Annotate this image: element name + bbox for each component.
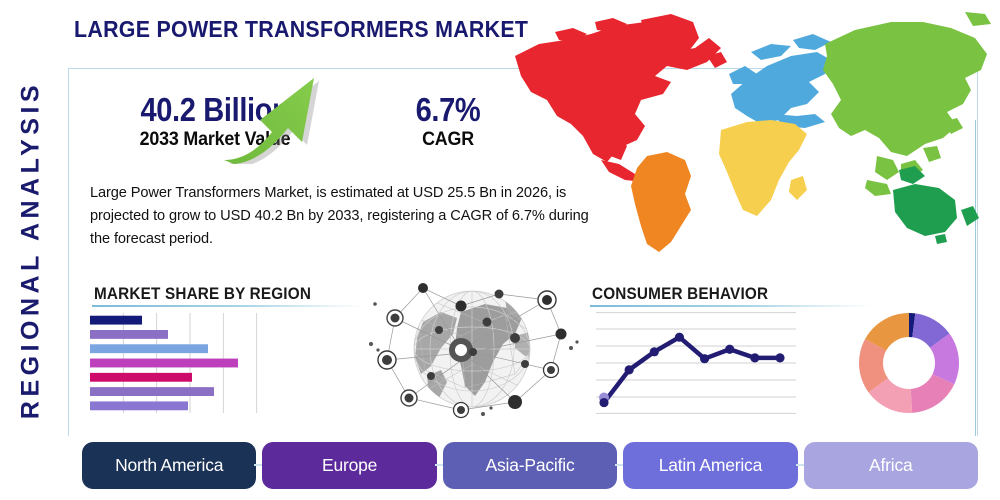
vertical-section-label-text: REGIONAL ANALYSIS: [17, 81, 46, 419]
page-title: LARGE POWER TRANSFORMERS MARKET: [74, 16, 528, 43]
kpi-cagr: 6.7% CAGR: [388, 92, 508, 152]
bar-chart-bars: [90, 316, 238, 411]
network-globe-icon: [365, 278, 580, 420]
growth-arrow-icon: [222, 76, 332, 164]
line-chart-markers: [599, 333, 785, 408]
market-share-heading: MARKET SHARE BY REGION: [94, 284, 311, 304]
region-pill-label: North America: [115, 455, 223, 476]
region-selector-bar[interactable]: North AmericaEuropeAsia-PacificLatin Ame…: [82, 440, 978, 490]
consumer-behavior-heading-rule: [590, 305, 872, 307]
consumer-behavior-heading: CONSUMER BEHAVIOR: [592, 284, 768, 304]
region-pill-asia-pacific[interactable]: Asia-Pacific: [443, 442, 617, 489]
line-chart-gridlines: [596, 313, 796, 414]
consumer-behavior-line-chart: [596, 312, 796, 414]
infographic-root: REGIONAL ANALYSIS LARGE POWER TRANSFORME…: [0, 0, 1000, 500]
market-share-bar-chart: [90, 313, 290, 413]
kpi-cagr-number: 6.7%: [395, 92, 501, 128]
vertical-section-label: REGIONAL ANALYSIS: [0, 0, 62, 500]
region-pill-europe[interactable]: Europe: [262, 442, 436, 489]
kpi-cagr-label: CAGR: [392, 128, 505, 152]
region-pill-label: Latin America: [659, 455, 762, 476]
region-pill-latin-america[interactable]: Latin America: [623, 442, 797, 489]
region-pill-label: Africa: [869, 455, 913, 476]
region-pill-north-america[interactable]: North America: [82, 442, 256, 489]
region-pill-label: Europe: [322, 455, 377, 476]
regional-donut-chart: [856, 310, 962, 416]
world-map-icon: [495, 4, 995, 264]
market-share-heading-rule: [92, 305, 362, 307]
donut-slices: [859, 313, 959, 413]
region-pill-africa[interactable]: Africa: [804, 442, 978, 489]
region-pill-label: Asia-Pacific: [486, 455, 575, 476]
